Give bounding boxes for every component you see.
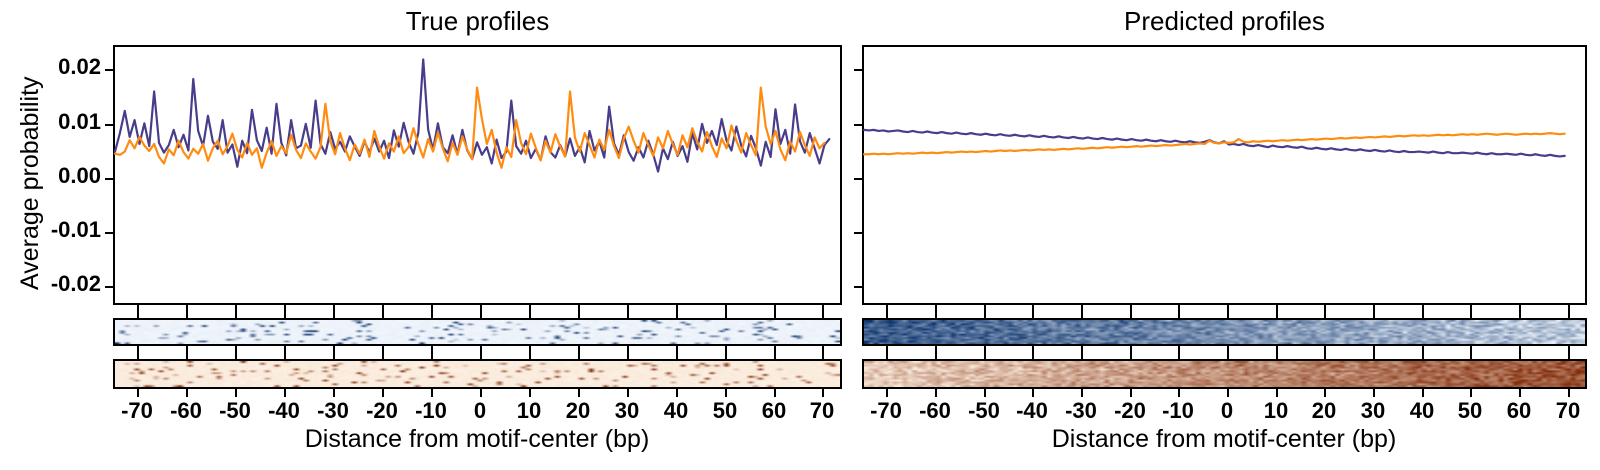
xtick-mark-0-3-5 — [382, 351, 384, 359]
xtick-mark-1-4-0 — [886, 389, 888, 397]
xtick-label-0-7: 0 — [474, 398, 486, 424]
xtick-mark-0-3-2 — [235, 351, 237, 359]
xtick-mark-0-1-3 — [284, 310, 286, 318]
xtick-label-1-0: -70 — [870, 398, 902, 424]
xtick-label-0-2: -50 — [219, 398, 251, 424]
xtick-mark-1-1-7 — [1227, 310, 1229, 318]
xtick-mark-0-3-13 — [774, 351, 776, 359]
ytick-mark-0-0 — [105, 69, 113, 71]
xtick-label-1-5: -20 — [1114, 398, 1146, 424]
axes-predicted — [862, 45, 1587, 305]
xtick-label-1-1: -60 — [919, 398, 951, 424]
xtick-mark-1-3-6 — [1178, 351, 1180, 359]
xtick-mark-0-4-1 — [186, 389, 188, 397]
xtick-label-1-8: 10 — [1264, 398, 1288, 424]
ytick-mark-0-2 — [105, 178, 113, 180]
true-profile-lines — [115, 47, 844, 307]
xtick-mark-1-4-2 — [984, 389, 986, 397]
predicted-forward-heatmap — [862, 318, 1587, 346]
xtick-mark-0-4-6 — [431, 389, 433, 397]
xtick-label-0-11: 40 — [664, 398, 688, 424]
xtick-mark-1-1-8 — [1276, 310, 1278, 318]
xtick-mark-0-3-4 — [333, 351, 335, 359]
ytick-mark-0-1 — [105, 124, 113, 126]
xtick-mark-0-4-4 — [333, 389, 335, 397]
ytick-mark-1-0 — [854, 69, 862, 71]
xtick-label-1-7: 0 — [1221, 398, 1233, 424]
xtick-label-1-6: -10 — [1162, 398, 1194, 424]
xtick-label-0-3: -40 — [268, 398, 300, 424]
xtick-mark-1-1-2 — [984, 310, 986, 318]
xtick-mark-0-4-10 — [627, 389, 629, 397]
xtick-mark-1-3-13 — [1519, 351, 1521, 359]
xtick-mark-0-3-8 — [529, 351, 531, 359]
xtick-mark-0-3-14 — [822, 351, 824, 359]
xtick-mark-1-4-10 — [1373, 389, 1375, 397]
xtick-label-0-8: 10 — [517, 398, 541, 424]
xtick-label-0-9: 20 — [566, 398, 590, 424]
xtick-mark-0-4-14 — [822, 389, 824, 397]
ytick-label-0: 0.02 — [5, 54, 101, 80]
xtick-mark-0-3-6 — [431, 351, 433, 359]
xtick-mark-1-1-13 — [1519, 310, 1521, 318]
predicted-reverse-line — [864, 133, 1565, 154]
xtick-mark-1-3-7 — [1227, 351, 1229, 359]
xtick-mark-1-1-12 — [1470, 310, 1472, 318]
xtick-mark-0-1-9 — [578, 310, 580, 318]
xtick-mark-1-4-11 — [1422, 389, 1424, 397]
xtick-mark-0-3-1 — [186, 351, 188, 359]
ytick-label-2: 0.00 — [5, 163, 101, 189]
xtick-mark-0-1-5 — [382, 310, 384, 318]
panel-title-predicted: Predicted profiles — [862, 6, 1587, 37]
xtick-mark-1-3-10 — [1373, 351, 1375, 359]
xtick-label-0-0: -70 — [121, 398, 153, 424]
ytick-mark-1-1 — [854, 124, 862, 126]
xtick-label-1-3: -40 — [1016, 398, 1048, 424]
ytick-mark-1-2 — [854, 178, 862, 180]
xtick-mark-1-3-9 — [1324, 351, 1326, 359]
xtick-mark-1-4-9 — [1324, 389, 1326, 397]
xtick-mark-0-1-11 — [676, 310, 678, 318]
xtick-mark-1-4-3 — [1032, 389, 1034, 397]
xtick-mark-0-4-3 — [284, 389, 286, 397]
xtick-mark-1-1-4 — [1081, 310, 1083, 318]
xtick-mark-0-3-0 — [137, 351, 139, 359]
xtick-mark-1-3-0 — [886, 351, 888, 359]
xtick-label-1-13: 60 — [1507, 398, 1531, 424]
xtick-label-0-13: 60 — [762, 398, 786, 424]
xtick-mark-1-4-4 — [1081, 389, 1083, 397]
xtick-label-0-5: -20 — [366, 398, 398, 424]
xtick-label-0-12: 50 — [713, 398, 737, 424]
xtick-mark-1-3-1 — [935, 351, 937, 359]
xtick-mark-1-1-14 — [1568, 310, 1570, 318]
xtick-mark-0-3-7 — [480, 351, 482, 359]
xtick-label-1-11: 40 — [1410, 398, 1434, 424]
xtick-mark-0-3-9 — [578, 351, 580, 359]
xtick-mark-1-3-8 — [1276, 351, 1278, 359]
xtick-mark-0-3-3 — [284, 351, 286, 359]
ytick-label-1: 0.01 — [5, 109, 101, 135]
xtick-mark-1-3-2 — [984, 351, 986, 359]
xtick-mark-1-3-3 — [1032, 351, 1034, 359]
xtick-mark-1-1-11 — [1422, 310, 1424, 318]
xtick-mark-0-1-13 — [774, 310, 776, 318]
xtick-mark-1-4-7 — [1227, 389, 1229, 397]
xtick-label-0-10: 30 — [615, 398, 639, 424]
xtick-mark-0-1-1 — [186, 310, 188, 318]
xtick-mark-1-1-5 — [1130, 310, 1132, 318]
xtick-mark-0-3-12 — [725, 351, 727, 359]
xtick-mark-1-1-10 — [1373, 310, 1375, 318]
xtick-mark-1-4-13 — [1519, 389, 1521, 397]
xlabel-true: Distance from motif-center (bp) — [305, 425, 650, 454]
xtick-label-0-6: -10 — [415, 398, 447, 424]
ytick-label-4: -0.02 — [5, 271, 101, 297]
predicted-reverse-heatmap — [862, 359, 1587, 389]
xtick-mark-0-1-0 — [137, 310, 139, 318]
xtick-mark-1-4-6 — [1178, 389, 1180, 397]
xtick-mark-0-4-0 — [137, 389, 139, 397]
xtick-mark-1-1-0 — [886, 310, 888, 318]
xtick-mark-1-4-8 — [1276, 389, 1278, 397]
xtick-mark-0-4-9 — [578, 389, 580, 397]
xtick-mark-1-3-5 — [1130, 351, 1132, 359]
xtick-label-1-9: 20 — [1312, 398, 1336, 424]
xtick-mark-1-3-11 — [1422, 351, 1424, 359]
xtick-mark-0-1-8 — [529, 310, 531, 318]
predicted-profile-lines — [864, 47, 1589, 307]
xtick-label-0-14: 70 — [810, 398, 834, 424]
xtick-mark-0-4-12 — [725, 389, 727, 397]
xtick-mark-1-3-14 — [1568, 351, 1570, 359]
profile-figure: True profiles Distance from motif-center… — [0, 0, 1600, 470]
true-forward-heatmap — [113, 318, 842, 346]
ytick-mark-1-4 — [854, 286, 862, 288]
xtick-label-1-14: 70 — [1556, 398, 1580, 424]
xtick-mark-0-1-2 — [235, 310, 237, 318]
ytick-mark-1-3 — [854, 232, 862, 234]
xtick-mark-0-1-12 — [725, 310, 727, 318]
xtick-mark-1-1-6 — [1178, 310, 1180, 318]
xtick-label-0-1: -60 — [170, 398, 202, 424]
xtick-mark-0-4-11 — [676, 389, 678, 397]
ytick-mark-0-3 — [105, 232, 113, 234]
xtick-mark-1-1-1 — [935, 310, 937, 318]
xtick-mark-1-4-14 — [1568, 389, 1570, 397]
xtick-mark-0-3-10 — [627, 351, 629, 359]
ytick-label-3: -0.01 — [5, 217, 101, 243]
xlabel-predicted: Distance from motif-center (bp) — [1052, 425, 1397, 454]
xtick-mark-0-4-2 — [235, 389, 237, 397]
xtick-label-1-12: 50 — [1458, 398, 1482, 424]
xtick-mark-0-1-6 — [431, 310, 433, 318]
xtick-label-1-4: -30 — [1065, 398, 1097, 424]
xtick-mark-0-4-5 — [382, 389, 384, 397]
xtick-label-0-4: -30 — [317, 398, 349, 424]
xtick-label-1-10: 30 — [1361, 398, 1385, 424]
xtick-mark-0-1-14 — [822, 310, 824, 318]
xtick-mark-1-3-4 — [1081, 351, 1083, 359]
xtick-mark-0-4-7 — [480, 389, 482, 397]
xtick-mark-0-4-8 — [529, 389, 531, 397]
xtick-label-1-2: -50 — [968, 398, 1000, 424]
xtick-mark-1-1-9 — [1324, 310, 1326, 318]
xtick-mark-0-1-10 — [627, 310, 629, 318]
xtick-mark-1-4-5 — [1130, 389, 1132, 397]
xtick-mark-1-3-12 — [1470, 351, 1472, 359]
xtick-mark-1-4-1 — [935, 389, 937, 397]
true-reverse-heatmap — [113, 359, 842, 389]
xtick-mark-1-1-3 — [1032, 310, 1034, 318]
xtick-mark-0-4-13 — [774, 389, 776, 397]
panel-title-true: True profiles — [113, 6, 842, 37]
xtick-mark-1-4-12 — [1470, 389, 1472, 397]
axes-true — [113, 45, 842, 305]
xtick-mark-0-1-4 — [333, 310, 335, 318]
xtick-mark-0-3-11 — [676, 351, 678, 359]
xtick-mark-0-1-7 — [480, 310, 482, 318]
ytick-mark-0-4 — [105, 286, 113, 288]
